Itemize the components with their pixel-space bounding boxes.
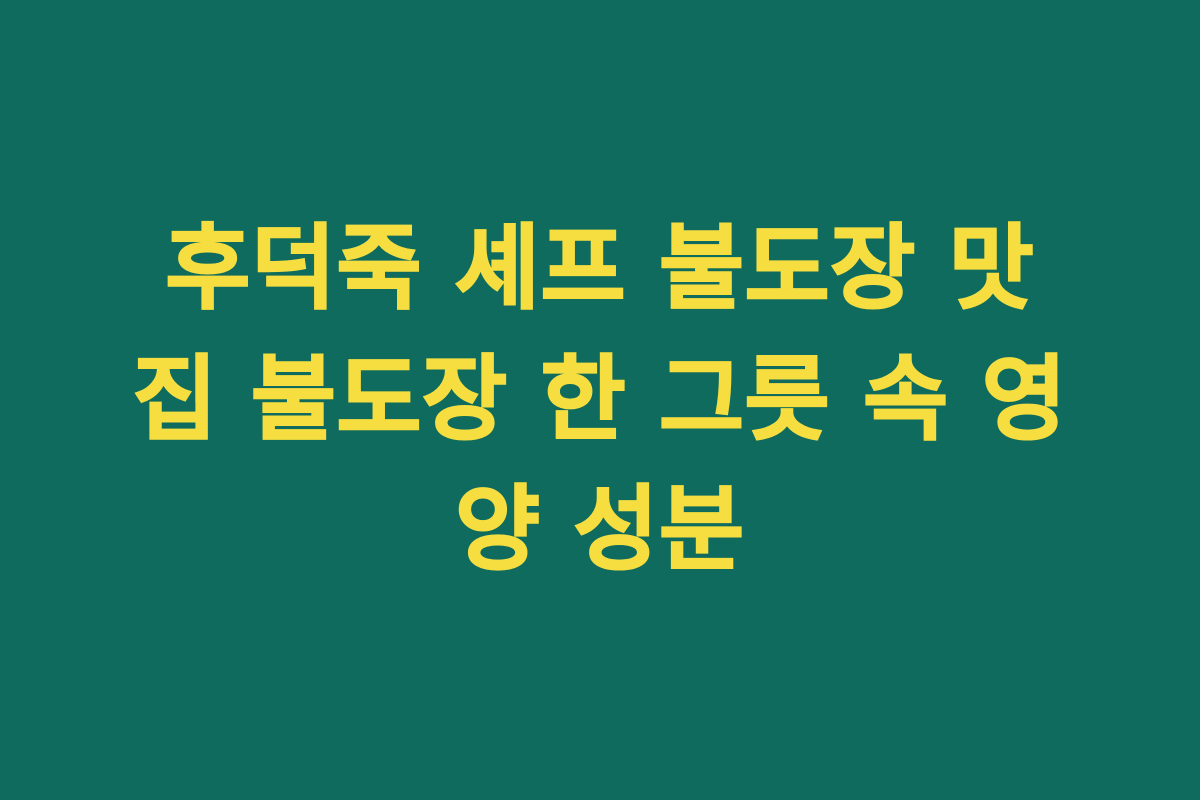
text-banner: 후덕죽 셰프 불도장 맛 집 불도장 한 그릇 속 영 양 성분 [0,0,1200,800]
headline-line-2: 집 불도장 한 그릇 속 영 [60,335,1140,466]
headline-line-3: 양 성분 [60,465,1140,596]
headline-text: 후덕죽 셰프 불도장 맛 집 불도장 한 그릇 속 영 양 성분 [0,204,1200,596]
headline-line-1: 후덕죽 셰프 불도장 맛 [60,204,1140,335]
